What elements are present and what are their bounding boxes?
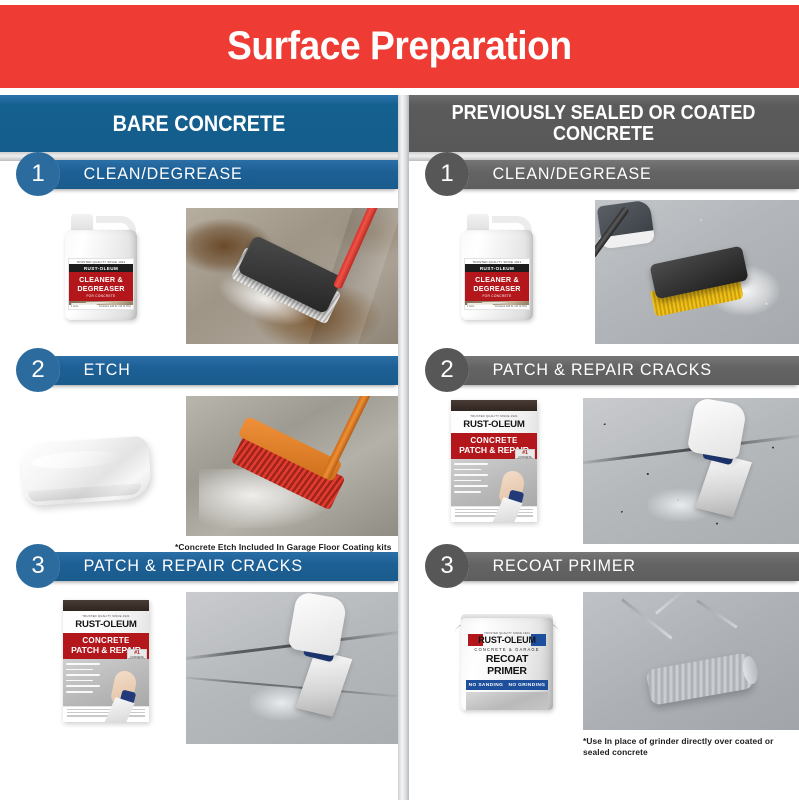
step-number-badge: 2: [16, 348, 60, 392]
box-top-shadow: [63, 600, 149, 611]
column-header-label: PREVIOUSLY SEALED OR COATED CONCRETE: [428, 103, 780, 145]
jug-label: TRUSTED QUALITY SINCE 1921 RUST-OLEUM CL…: [68, 258, 134, 310]
product-name-line1: CONCRETE: [453, 436, 535, 445]
can-label-photo: [466, 692, 548, 710]
product-subtitle: FOR CONCRETE: [71, 294, 131, 298]
roller-frame-bar: [696, 599, 738, 629]
product-cleaner-degreaser: TRUSTED QUALITY SINCE 1921 RUST-OLEUM CL…: [63, 212, 147, 320]
step-block: PATCH & REPAIR CRACKS 3 TRUSTED QUALITY …: [0, 544, 398, 754]
page-title: Surface Preparation: [227, 24, 572, 69]
column-divider: [398, 95, 409, 800]
claim-no-grinding: NO GRINDING: [508, 683, 545, 688]
product-name-line1: CLEANER &: [71, 275, 131, 284]
product-concrete-etch: [22, 432, 150, 510]
step-number-badge: 3: [16, 544, 60, 588]
product-name-plate: CLEANER & DEGREASER FOR CONCRETE: [465, 272, 529, 301]
step-number-badge: 1: [16, 152, 60, 196]
infographic-root: Surface Preparation BARE CONCRETE PREVIO…: [0, 0, 799, 800]
product-concrete-patch-repair: TRUSTED QUALITY SINCE 1921 RUST-OLEUM CO…: [451, 400, 537, 522]
jug-illustration: TRUSTED QUALITY SINCE 1921 RUST-OLEUM CL…: [459, 212, 543, 320]
step-block: ETCH 2 *Concrete Etch Included In Gar: [0, 348, 398, 544]
product-subtitle: FOR CONCRETE: [467, 294, 527, 298]
label-photo: [465, 301, 529, 305]
etch-bag-illustration: [22, 432, 150, 510]
product-name-line1: CLEANER &: [467, 275, 527, 284]
step-title: PATCH & REPAIR CRACKS: [38, 557, 303, 576]
photo-patching-crack-sealed: [583, 398, 799, 544]
label-bullets: [467, 303, 493, 310]
column-previously-sealed: CLEAN/DEGREASE 1 TRUSTED QUALITY SINCE 1…: [409, 152, 799, 754]
step-block: RECOAT PRIMER 3 TRUSTED QUALITY SINCE 19: [409, 544, 799, 754]
step-title-bar: PATCH & REPAIR CRACKS: [38, 552, 398, 581]
jug-illustration: TRUSTED QUALITY SINCE 1921 RUST-OLEUM CL…: [63, 212, 147, 320]
footnote-recoat-primer: *Use In place of grinder directly over c…: [583, 736, 798, 759]
step-header: PATCH & REPAIR CRACKS 2: [409, 348, 799, 392]
step-title-bar: CLEAN/DEGREASE: [38, 160, 398, 189]
label-bullets: [71, 303, 97, 310]
brand-name: RUST-OLEUM: [69, 264, 133, 272]
column-header-label: BARE CONCRETE: [113, 112, 286, 135]
label-photo: [69, 301, 133, 305]
step-title: CLEAN/DEGREASE: [38, 165, 243, 184]
step-number-badge: 3: [425, 544, 469, 588]
photo-rolling-primer: [583, 592, 799, 730]
patch-box-illustration: TRUSTED QUALITY SINCE 1921 RUST-OLEUM CO…: [63, 600, 149, 722]
gloved-hand: [687, 398, 748, 460]
column-header-bare-concrete: BARE CONCRETE: [0, 95, 398, 152]
product-name-line2: DEGREASER: [467, 284, 527, 293]
column-header-previously-sealed: PREVIOUSLY SEALED OR COATED CONCRETE: [408, 95, 799, 152]
roller-frame: [622, 598, 743, 653]
step-title-bar: RECOAT PRIMER: [447, 552, 799, 581]
can-body: TRUSTED QUALITY SINCE 1921 RUST-OLEUM CO…: [461, 618, 553, 710]
product-category: CONCRETE & GARAGE: [466, 647, 548, 652]
step-number-badge: 2: [425, 348, 469, 392]
product-tagline: TRUSTED QUALITY SINCE 1921: [451, 411, 537, 419]
product-concrete-patch-repair: TRUSTED QUALITY SINCE 1921 RUST-OLEUM CO…: [63, 600, 149, 722]
step-header: CLEAN/DEGREASE 1: [0, 152, 398, 196]
photo-scrubbing-stained-concrete: [186, 208, 398, 344]
step-title: PATCH & REPAIR CRACKS: [447, 361, 712, 380]
product-name-line2: DEGREASER: [71, 284, 131, 293]
step-title-bar: PATCH & REPAIR CRACKS: [447, 356, 799, 385]
etch-bag: [20, 436, 152, 507]
can-illustration: TRUSTED QUALITY SINCE 1921 RUST-OLEUM CO…: [455, 610, 559, 714]
step-number-badge: 1: [425, 152, 469, 196]
box-bullets: [454, 463, 488, 497]
size-right: Contains 128 FL OZ (3.78L): [99, 305, 131, 308]
step-header: CLEAN/DEGREASE 1: [409, 152, 799, 196]
brand-name: RUST-OLEUM: [465, 264, 529, 272]
photo-etching-concrete: [186, 396, 398, 536]
step-title: CLEAN/DEGREASE: [447, 165, 652, 184]
box-top-shadow: [451, 400, 537, 411]
box-photo: [451, 459, 537, 506]
gloved-hand: [287, 592, 347, 657]
step-header: ETCH 2: [0, 348, 398, 392]
photo-scrubbing-sealed-concrete: [595, 200, 799, 344]
title-banner: Surface Preparation: [0, 5, 799, 88]
step-block: PATCH & REPAIR CRACKS 2 TRUSTED QUALITY …: [409, 348, 799, 544]
claim-no-sanding: NO SANDING: [469, 683, 504, 688]
product-claims: NO SANDING NO GRINDING: [466, 680, 548, 690]
product-name-plate: CLEANER & DEGREASER FOR CONCRETE: [69, 272, 133, 301]
can-label: TRUSTED QUALITY SINCE 1921 RUST-OLEUM CO…: [461, 632, 553, 710]
box-photo: [63, 659, 149, 706]
jug-label: TRUSTED QUALITY SINCE 1921 RUST-OLEUM CL…: [464, 258, 530, 310]
photo-patching-crack: [186, 592, 398, 744]
step-title-bar: ETCH: [38, 356, 398, 385]
product-name-line1: CONCRETE: [65, 636, 147, 645]
patch-box-illustration: TRUSTED QUALITY SINCE 1921 RUST-OLEUM CO…: [451, 400, 537, 522]
step-block: CLEAN/DEGREASE 1 TRUSTED QUALITY SINCE 1…: [409, 152, 799, 348]
step-block: CLEAN/DEGREASE 1 TRUSTED QUALITY SINCE 1…: [0, 152, 398, 348]
brand-name: RUST-OLEUM: [63, 619, 149, 633]
box-bullets: [66, 663, 100, 697]
product-cleaner-degreaser: TRUSTED QUALITY SINCE 1921 RUST-OLEUM CL…: [459, 212, 543, 320]
brush-handle-orange: [321, 396, 377, 480]
step-title: RECOAT PRIMER: [447, 557, 636, 576]
product-name: RECOAT PRIMER: [466, 653, 548, 677]
brand-name: RUST-OLEUM: [466, 635, 548, 645]
product-name-plate: CONCRETE PATCH & REPAIR #1 CONCRETE REPA…: [63, 633, 149, 659]
size-right: Contains 128 FL OZ (3.78L): [495, 305, 527, 308]
product-tagline: TRUSTED QUALITY SINCE 1921: [63, 611, 149, 619]
step-title-bar: CLEAN/DEGREASE: [447, 160, 799, 189]
product-recoat-primer: TRUSTED QUALITY SINCE 1921 RUST-OLEUM CO…: [455, 610, 559, 714]
column-bare-concrete: CLEAN/DEGREASE 1 TRUSTED QUALITY SINCE 1…: [0, 152, 398, 754]
roller-cover: [645, 652, 753, 705]
step-header: PATCH & REPAIR CRACKS 3: [0, 544, 398, 588]
product-name-plate: CONCRETE PATCH & REPAIR #1 CONCRETE REPA…: [451, 433, 537, 459]
brand-name: RUST-OLEUM: [451, 419, 537, 433]
step-header: RECOAT PRIMER 3: [409, 544, 799, 588]
